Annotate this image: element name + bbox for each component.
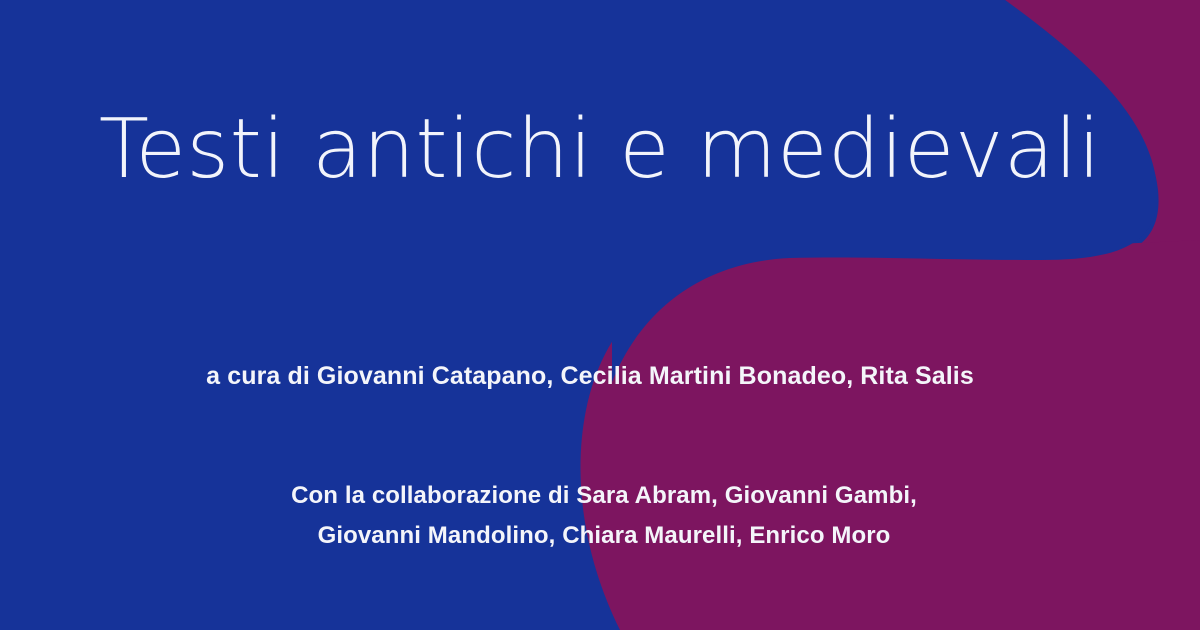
poster-canvas: Testi antichi e medievali a cura di Giov…	[0, 0, 1200, 630]
poster-text-layer: Testi antichi e medievali a cura di Giov…	[0, 0, 1200, 630]
collaborators-line-2: Giovanni Mandolino, Chiara Maurelli, Enr…	[0, 516, 1200, 556]
collaborators-line-1: Con la collaborazione di Sara Abram, Gio…	[0, 476, 1200, 516]
collaborators-credit: Con la collaborazione di Sara Abram, Gio…	[0, 476, 1200, 556]
page-title: Testi antichi e medievali	[0, 107, 1200, 193]
editors-credit: a cura di Giovanni Catapano, Cecilia Mar…	[0, 361, 1180, 391]
